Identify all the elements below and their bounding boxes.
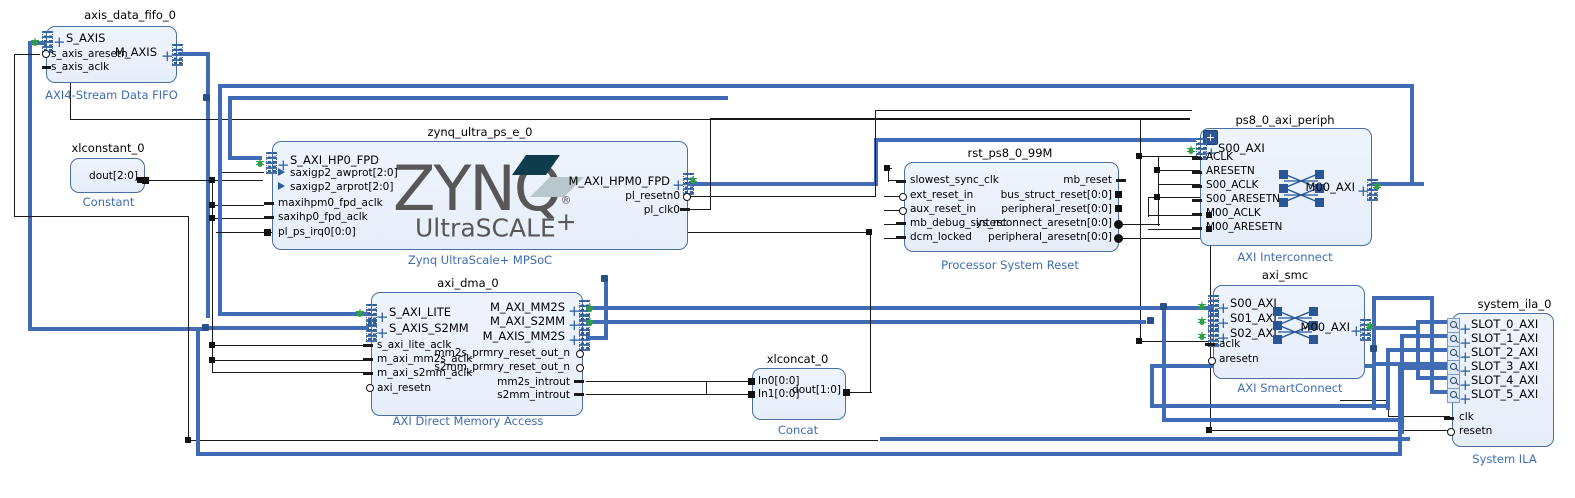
pin-connector-awprot[interactable] [278,168,285,176]
expand-plus-icon[interactable]: + [376,328,389,338]
block-title-ps8-axi-periph: ps8_0_axi_periph [1205,113,1365,127]
pin-label-slowest-sync-clk: slowest_sync_clk [910,175,999,186]
net-wire [148,180,263,181]
net-wire [875,110,876,196]
pin-label-s-axis: S_AXIS [66,33,106,44]
pin-label-aresetn: ARESETN [1206,166,1255,177]
bus-wire [688,182,878,186]
bus-wire [604,278,608,340]
wire-junction [203,94,210,101]
pin-label-s-axi-hp0-fpd: S_AXI_HP0_FPD [290,155,379,166]
wire-junction [1206,427,1212,433]
block-title-xlconstant: xlconstant_0 [48,141,168,155]
bus-wire [196,452,1402,456]
pin-label-smc-aclk: aclk [1219,339,1240,350]
pin-label-ila-resetn: resetn [1459,426,1492,437]
bus-wire [586,306,1226,310]
block-title-axis-data-fifo: axis_data_fifo_0 [40,8,220,22]
debug-marker-icon [1197,311,1207,320]
net-wire [706,394,752,395]
pin-label-s-axis-aclk: s_axis_aclk [51,62,109,73]
net-wire [1140,156,1200,157]
bus-wire [1430,296,1434,392]
wire-junction [1206,226,1212,232]
net-wire [688,196,876,197]
pin-connector-pl-resetn0[interactable] [683,193,691,201]
pin-label-pl-clk0: pl_clk0 [570,205,680,216]
bus-wire [218,84,1414,88]
pin-connector-maxihpm0-aclk[interactable] [264,202,274,205]
pin-connector-ila-resetn[interactable] [1447,428,1455,436]
block-title-xlconcat: xlconcat_0 [740,352,855,366]
bus-wire [874,138,1196,142]
bus-wire [1162,418,1404,422]
pin-connector-s00-aresetn[interactable] [1192,199,1202,202]
debug-marker-icon [1197,296,1207,305]
pin-connector-s2mm-introut[interactable] [574,393,584,396]
wire-junction [601,275,608,282]
bus-wire [1420,182,1424,186]
pin-label-mm2s-introut: mm2s_introut [440,377,570,388]
pin-label-mm2s-prmry-reset-out-n: mm2s_prmry_reset_out_n [410,348,570,359]
wire-junction [137,177,143,183]
bus-wire [1150,404,1390,408]
wire-junction [185,437,191,443]
block-title-rst: rst_ps8_0_99M [920,146,1100,160]
net-wire [220,172,264,173]
net-wire [710,118,1190,119]
pin-label-s2mm-prmry-reset-out-n: s2mm_prmry_reset_out_n [410,362,570,373]
debug-marker-icon [688,170,698,179]
debug-marker-icon [585,312,595,321]
block-subtitle-axi-interconnect: AXI Interconnect [1205,250,1365,264]
bus-wire [1150,364,1154,408]
pin-connector-mm2s-introut[interactable] [574,380,584,383]
block-subtitle-xlconcat: Concat [748,423,848,437]
wire-junction [209,202,215,208]
bus-wire [218,312,370,316]
net-wire [188,440,878,441]
wire-junction [1136,338,1142,344]
expand-plus-icon[interactable]: + [1459,324,1472,334]
bus-wire [1398,366,1450,370]
net-wire [586,394,706,395]
wire-junction [884,165,890,171]
bus-wire [1400,334,1452,338]
pin-label-slot-3-axi: SLOT_3_AXI [1471,361,1538,372]
pin-connector-peripheral-reset[interactable] [1115,205,1122,212]
pin-label-m-axi-s2mm: M_AXI_S2MM [450,316,565,327]
wire-junction [1136,153,1142,159]
pin-connector-aclk[interactable] [42,66,51,69]
bus-wire [1142,320,1146,321]
bus-connector-s-axi-hp0[interactable] [266,152,277,174]
pin-label-slot-5-axi: SLOT_5_AXI [1471,389,1538,400]
debug-marker-icon [355,303,365,312]
pin-label-mb-reset: mb_reset [990,175,1112,186]
net-wire [706,381,707,395]
wire-junction [1160,303,1167,310]
bus-wire [206,52,210,318]
block-title-axi-smc: axi_smc [1230,268,1340,282]
debug-marker-icon [30,32,40,41]
bus-wire [1386,348,1390,410]
pin-connector-pl-clk0[interactable] [680,208,690,211]
pin-connector-m00-aclk[interactable] [1192,213,1202,216]
block-subtitle-xlconstant: Constant [56,195,161,209]
bus-wire [1372,362,1452,366]
pin-label-saxigp2-arprot: saxigp2_arprot[2:0] [290,182,393,193]
pin-label-const-dout: dout[2:0] [78,171,138,182]
net-wire [14,216,189,217]
expand-plus-icon[interactable]: + [53,37,66,47]
pin-label-smc-s00-axi: S00_AXI [1230,298,1277,309]
bus-wire [228,96,232,158]
pin-label-interconnect-aresetn: interconnect_aresetn[0:0] [955,218,1112,229]
pin-connector-m-axi-s2mm-aclk[interactable] [363,372,373,375]
pin-label-pl-ps-irq0: pl_ps_irq0[0:0] [278,227,356,238]
debug-marker-icon [585,298,595,307]
expand-plus-icon[interactable]: + [1459,352,1472,362]
pin-connector-aux-reset-in[interactable] [899,207,907,215]
block-subtitle-system-ila: System ILA [1452,452,1557,466]
pin-connector-m00-aresetn[interactable] [1192,227,1202,230]
pin-connector-saxihp0-aclk[interactable] [264,216,274,219]
bus-wire [1372,326,1416,330]
pin-connector-arprot[interactable] [278,182,285,190]
pin-label-maxihpm0-fpd-aclk: maxihpm0_fpd_aclk [278,198,383,209]
net-wire [716,381,752,382]
pin-connector-aclk[interactable] [1192,157,1202,160]
pin-label-slot-4-axi: SLOT_4_AXI [1471,375,1538,386]
pin-label-peripheral-aresetn: peripheral_aresetn[0:0] [955,232,1112,243]
pin-connector-mb-debug-sys-rst[interactable] [896,222,906,225]
bus-wire [196,328,200,456]
pin-label-pl-resetn0: pl_resetn0 [570,191,680,202]
pin-label-smc-m00-axi: M00_AXI [1270,322,1350,333]
net-wire [586,381,716,382]
pin-label-slot-0-axi: SLOT_0_AXI [1471,319,1538,330]
pin-label-aclk: ACLK [1206,152,1233,163]
bus-wire [1162,306,1166,422]
net-wire [875,110,1192,111]
pin-label-concat-dout: dout[1:0] [786,385,841,396]
net-wire [212,372,370,373]
block-title-axi-dma: axi_dma_0 [408,276,528,290]
pin-label-slot-1-axi: SLOT_1_AXI [1471,333,1538,344]
net-wire [14,54,40,55]
pin-connector-m-axi-mm2s-aclk[interactable] [363,358,373,361]
wire-junction [202,324,209,331]
wire-junction [1147,317,1154,324]
net-wire [1148,197,1149,217]
pin-label-bus-struct-reset: bus_struct_reset[0:0] [975,190,1112,201]
pin-label-m00-axi: M00_AXI [1275,182,1355,193]
wire-junction [209,215,215,221]
bus-wire [1372,296,1434,300]
pin-label-ila-clk: clk [1459,412,1474,423]
debug-marker-icon [255,153,265,162]
pin-connector-interconnect-aresetn[interactable] [1114,220,1123,229]
pin-connector-s2mm-reset-out[interactable] [576,364,584,372]
expand-plus-icon[interactable]: + [1459,394,1472,404]
debug-marker-icon [1372,176,1382,185]
pin-connector-in0[interactable] [748,378,755,385]
bus-wire [206,326,369,330]
pin-connector-peripheral-aresetn[interactable] [1114,234,1123,243]
pin-connector-aresetn[interactable] [42,50,50,58]
net-wire [212,345,370,346]
pin-label-aux-reset-in: aux_reset_in [910,204,976,215]
pin-connector-concat-dout[interactable] [843,389,850,396]
pin-connector-const-dout[interactable] [142,177,149,184]
bus-wire [586,320,1146,324]
pin-connector-bus-struct-reset[interactable] [1115,191,1122,198]
net-wire [1210,430,1450,431]
bus-wire [228,96,728,100]
pin-label-saxigp2-awprot: saxigp2_awprot[2:0] [290,168,398,179]
pin-label-s00-aclk: S00_ACLK [1206,180,1258,191]
pin-label-m00-aclk: M00_ACLK [1206,208,1261,219]
pin-connector-pl-ps-irq0[interactable] [264,229,271,236]
bus-wire [1410,84,1414,184]
pin-label-m00-aresetn: M00_ARESETN [1206,222,1282,233]
pin-label-s00-aresetn: S00_ARESETN [1206,194,1280,205]
net-wire [188,216,189,441]
debug-marker-icon [1365,316,1375,325]
pin-connector-ila-clk[interactable] [1444,417,1454,420]
net-wire [14,54,15,216]
pin-connector-s-axi-lite-aclk[interactable] [363,344,373,347]
bus-wire [1416,320,1420,378]
block-subtitle-zynq: Zynq UltraScale+ MPSoC [390,253,570,267]
pin-connector-ext-reset-in[interactable] [899,193,907,201]
wire-junction [209,357,215,363]
pin-label-peripheral-reset: peripheral_reset[0:0] [975,204,1112,215]
block-subtitle-axi-dma: AXI Direct Memory Access [388,414,548,428]
bus-wire [880,437,1410,441]
wire-junction [1206,212,1212,218]
net-wire [1140,341,1212,342]
net-wire [688,209,710,210]
pin-label-s2mm-introut: s2mm_introut [440,390,570,401]
block-title-zynq: zynq_ultra_ps_e_0 [390,125,570,139]
block-diagram-canvas[interactable]: axis_data_fifo_0 AXI4-Stream Data FIFO +… [0,0,1575,498]
net-wire [1122,238,1212,239]
bus-connector-m-axis-mm2s[interactable] [579,329,590,351]
net-wire [1340,400,1390,401]
expand-plus-icon[interactable]: + [1459,380,1472,390]
pin-connector-slowest-sync-clk[interactable] [896,180,906,183]
bus-wire [28,327,203,331]
expand-plus-icon[interactable]: + [1459,338,1472,348]
pin-connector-aresetn[interactable] [1192,171,1202,174]
pin-label-m-axi-mm2s: M_AXI_MM2S [450,302,565,313]
pin-connector-s00-aclk[interactable] [1192,185,1202,188]
wire-junction [209,342,215,348]
debug-marker-icon [1197,326,1207,335]
debug-marker-icon [1186,140,1196,149]
block-subtitle-axi-smartconnect: AXI SmartConnect [1220,381,1360,395]
pin-label-m-axi-hpm0-fpd: M_AXI_HPM0_FPD [530,176,670,187]
bus-connector-m-axis[interactable] [172,44,183,66]
pin-connector-in1[interactable] [748,391,755,398]
block-title-system-ila: system_ila_0 [1452,297,1575,311]
wire-junction [209,177,215,183]
block-subtitle-axis-data-fifo: AXI4-Stream Data FIFO [34,88,189,102]
pin-connector-smc-aclk[interactable] [1205,343,1215,346]
pin-label-axi-resetn: axi_resetn [377,383,431,394]
net-wire [870,232,871,393]
pin-label-s-axi-lite: S_AXI_LITE [389,307,451,318]
pin-label-slot-2-axi: SLOT_2_AXI [1471,347,1538,358]
net-wire [212,360,370,361]
pin-connector-smc-aresetn[interactable] [1208,357,1216,365]
block-subtitle-rst: Processor System Reset [920,258,1100,272]
pin-connector-dcm-locked[interactable] [896,236,906,239]
pin-label-smc-aresetn: aresetn [1219,354,1259,365]
bus-wire [880,437,884,441]
expand-plus-icon[interactable]: + [1459,366,1472,376]
zynq-logo-sub: UltraSCALE+ [415,207,577,242]
wire-junction [1154,194,1160,200]
pin-label-ext-reset-in: ext_reset_in [910,190,973,201]
pin-connector-mm2s-reset-out[interactable] [576,350,584,358]
bus-wire [28,41,32,331]
bus-wire [218,84,222,316]
pin-label-m-axis-mm2s: M_AXIS_MM2S [450,331,565,342]
wire-junction [1154,167,1160,173]
pin-label-m-axis: M_AXIS [97,47,157,58]
expand-plus-icon[interactable]: + [376,312,389,322]
pin-connector-mb-reset[interactable] [1116,179,1126,182]
wire-junction [866,229,872,235]
pin-connector-axi-resetn[interactable] [366,384,374,392]
pin-label-saxihp0-fpd-aclk: saxihp0_fpd_aclk [278,212,368,223]
wire-junction [1370,345,1377,352]
